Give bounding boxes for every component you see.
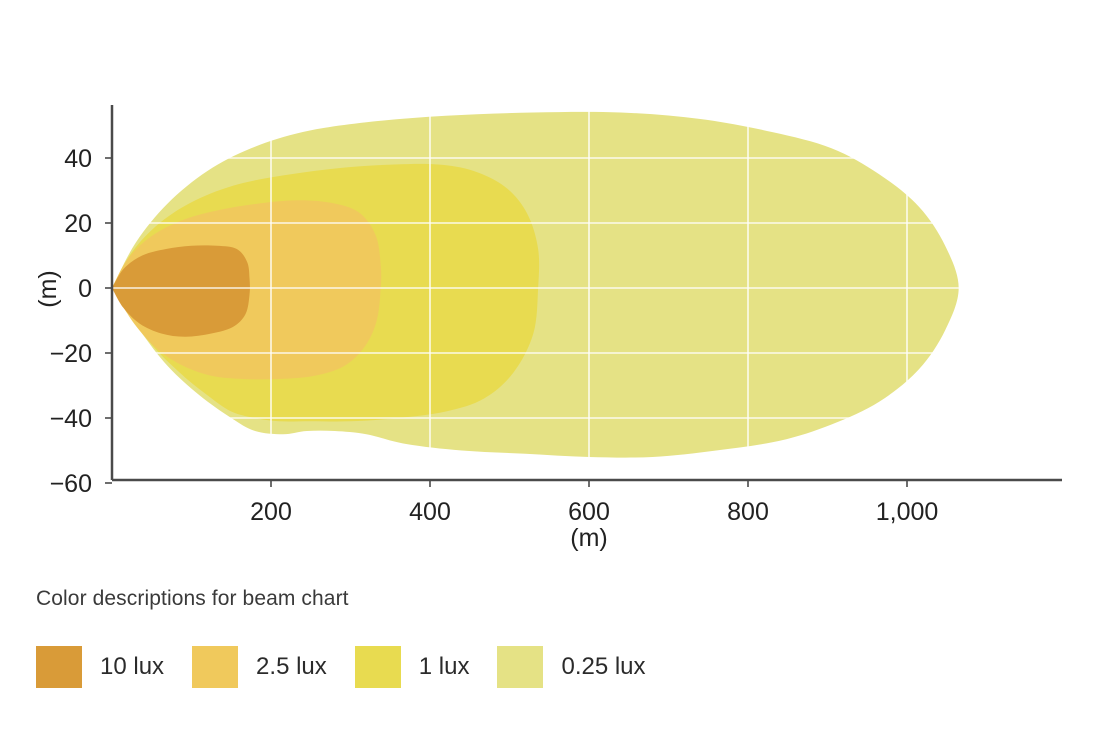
y-tick-label: 0 bbox=[78, 275, 92, 303]
legend-item[interactable]: 2.5 lux bbox=[192, 646, 355, 688]
legend-item-label: 0.25 lux bbox=[561, 653, 645, 681]
y-axis-title: (m) bbox=[34, 270, 62, 307]
y-tick-label: 20 bbox=[64, 210, 92, 238]
legend-swatch-icon bbox=[36, 646, 82, 688]
legend-item[interactable]: 10 lux bbox=[36, 646, 192, 688]
legend-block: Color descriptions for beam chart 10 lux… bbox=[36, 586, 1076, 688]
y-tick-label: 40 bbox=[64, 145, 92, 173]
legend-item[interactable]: 1 lux bbox=[355, 646, 498, 688]
y-tick-label: −60 bbox=[50, 470, 92, 498]
legend-swatch-icon bbox=[192, 646, 238, 688]
x-tick-label: 200 bbox=[250, 498, 292, 526]
x-tick-label: 1,000 bbox=[876, 498, 939, 526]
y-tick-label: −20 bbox=[50, 340, 92, 368]
legend-caption: Color descriptions for beam chart bbox=[36, 586, 1076, 612]
beam-chart-svg: 40200−20−40−60 2004006008001,000 (m) (m) bbox=[0, 0, 1108, 580]
legend-item-label: 2.5 lux bbox=[256, 653, 327, 681]
legend-items: 10 lux2.5 lux1 lux0.25 lux bbox=[36, 646, 1076, 688]
legend-item-label: 10 lux bbox=[100, 653, 164, 681]
legend-item-label: 1 lux bbox=[419, 653, 470, 681]
beam-regions bbox=[112, 112, 959, 458]
beam-chart: 40200−20−40−60 2004006008001,000 (m) (m) bbox=[0, 0, 1108, 580]
x-tick-label: 400 bbox=[409, 498, 451, 526]
x-tick-label: 800 bbox=[727, 498, 769, 526]
x-axis-title: (m) bbox=[570, 524, 607, 552]
y-tick-label: −40 bbox=[50, 405, 92, 433]
legend-item[interactable]: 0.25 lux bbox=[497, 646, 673, 688]
beam-chart-page: 40200−20−40−60 2004006008001,000 (m) (m)… bbox=[0, 0, 1108, 756]
x-tick-label: 600 bbox=[568, 498, 610, 526]
legend-swatch-icon bbox=[355, 646, 401, 688]
legend-swatch-icon bbox=[497, 646, 543, 688]
